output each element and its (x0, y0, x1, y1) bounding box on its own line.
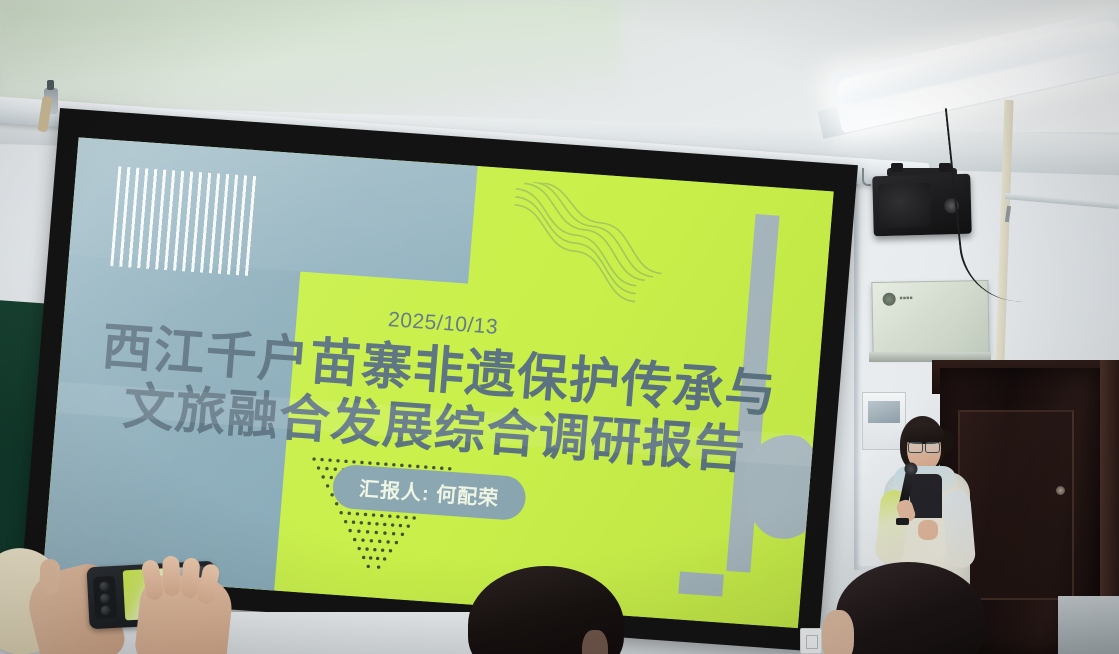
ceiling-green-tint (0, 0, 620, 96)
slide-stripes-decoration-icon (110, 166, 258, 276)
projection-screen-surface: 2025/10/13 西江千户苗寨非遗保护传承与 文旅融合发展综合调研报告 汇报… (43, 137, 834, 628)
presenter-fringe (904, 422, 944, 444)
side-desk (1058, 596, 1119, 654)
cabinet-logo-icon (883, 293, 896, 306)
presenter-watch-icon (896, 518, 909, 525)
photographer-finger (162, 556, 181, 597)
electrical-cabinet[interactable]: ■■■■ (871, 280, 989, 356)
presenter-sleeve-right (942, 489, 977, 569)
power-outlet-icon (800, 628, 822, 654)
door-knob-icon[interactable] (1056, 486, 1065, 495)
presenter-hand-right (918, 520, 938, 540)
presentation-slide: 2025/10/13 西江千户苗寨非遗保护传承与 文旅融合发展综合调研报告 汇报… (43, 137, 834, 628)
slide-wave-lines-icon (497, 180, 756, 317)
classroom-presentation-photo: 2025/10/13 西江千户苗寨非遗保护传承与 文旅融合发展综合调研报告 汇报… (0, 0, 1119, 654)
slide-gray-chip-shape (678, 572, 724, 597)
wall-hook-icon (862, 168, 871, 186)
cabinet-label: ■■■■ (900, 295, 913, 301)
presenter-glasses-icon (908, 442, 940, 451)
phone-camera-icon (93, 576, 117, 619)
